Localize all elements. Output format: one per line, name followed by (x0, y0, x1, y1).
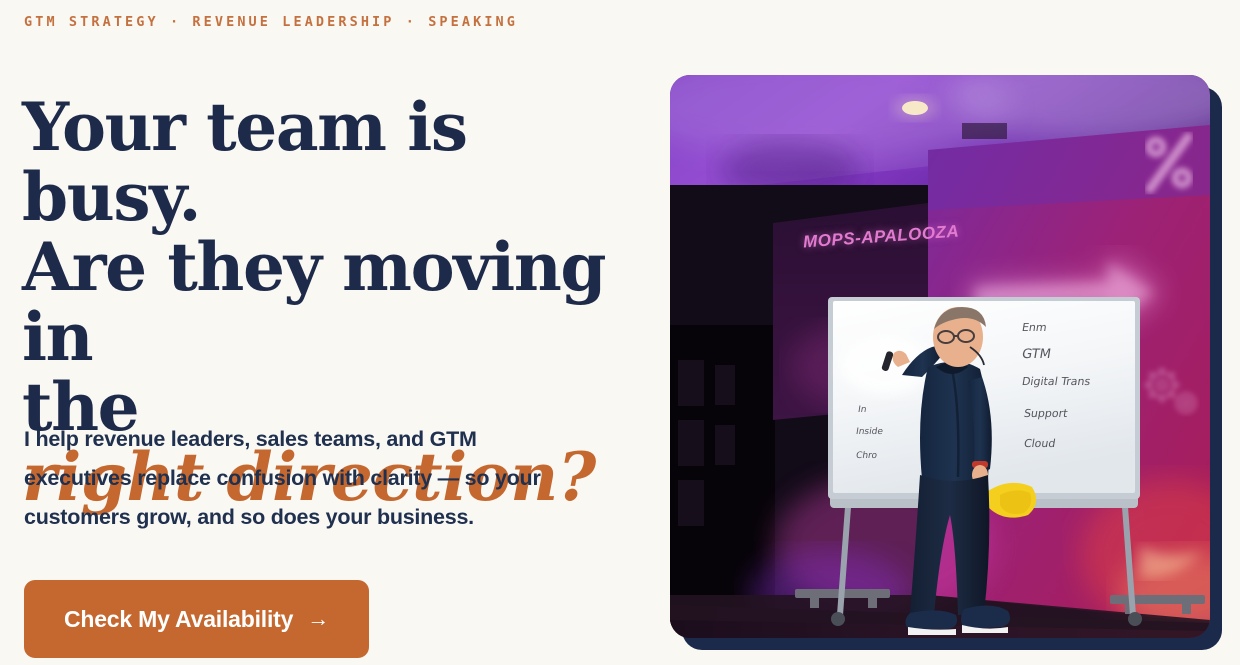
hero-photo-wrapper: MOPS-APALOOZA Enm GTM Digital Trans Supp… (670, 75, 1222, 650)
hero-left-column: GTM STRATEGY · REVENUE LEADERSHIP · SPEA… (0, 0, 670, 665)
whiteboard-note-1: GTM (1021, 347, 1052, 362)
whiteboard-note-0: Enm (1021, 321, 1048, 334)
hero-photo: MOPS-APALOOZA Enm GTM Digital Trans Supp… (670, 75, 1210, 638)
check-availability-button[interactable]: Check My Availability → (24, 580, 369, 658)
hero-subcopy: I help revenue leaders, sales teams, and… (24, 420, 569, 537)
whiteboard-note-left-2: Chro (855, 451, 878, 461)
cta-label: Check My Availability (64, 606, 293, 633)
hero-section: GTM STRATEGY · REVENUE LEADERSHIP · SPEA… (0, 0, 1240, 665)
whiteboard-note-3: Support (1023, 407, 1069, 420)
headline-line-2: Are they moving in (22, 228, 605, 376)
whiteboard-note-left-1: Inside (855, 427, 883, 437)
eyebrow-tagline: GTM STRATEGY · REVENUE LEADERSHIP · SPEA… (24, 14, 518, 30)
stage-illustration (670, 75, 1210, 638)
whiteboard-note-left-0: In (857, 405, 867, 415)
arrow-right-icon: → (307, 606, 329, 632)
whiteboard-note-2: Digital Trans (1021, 375, 1091, 388)
headline-line-1: Your team is busy. (22, 88, 467, 236)
whiteboard-note-4: Cloud (1023, 437, 1056, 450)
